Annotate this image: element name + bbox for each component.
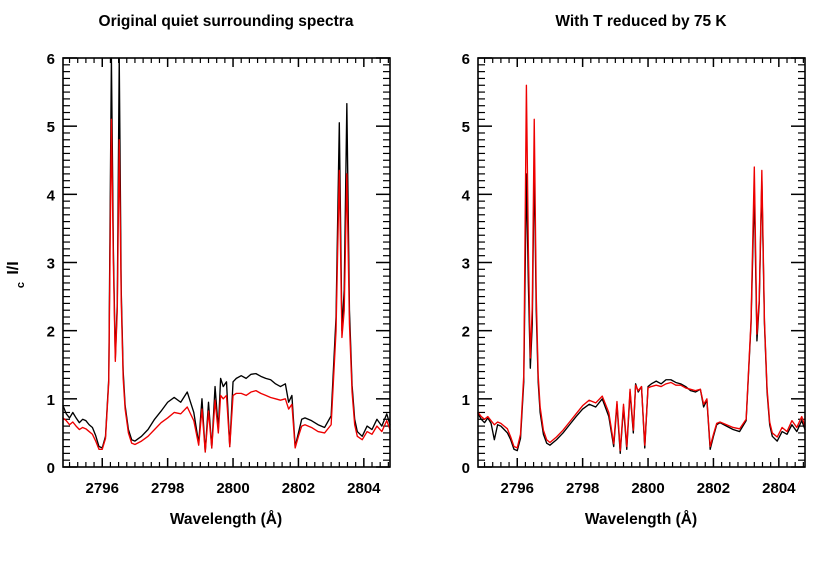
panel-original-quiet-surrounding-spectra: Original quiet surrounding spectra I/I c…	[0, 0, 415, 569]
series-line-model	[63, 119, 390, 452]
panel-right-title: With T reduced by 75 K	[555, 13, 727, 30]
y-tick-label: 1	[462, 392, 470, 409]
panel-with-t-reduced-by-75-k: With T reduced by 75 K Wavelength (Å) 27…	[415, 0, 830, 569]
y-tick-label: 5	[47, 119, 55, 136]
y-tick-label: 2	[47, 324, 55, 341]
y-tick-label: 4	[462, 187, 471, 204]
x-tick-label: 2802	[282, 480, 315, 497]
panel-left-xlabel: Wavelength (Å)	[170, 511, 282, 528]
panel-right-svg: With T reduced by 75 K Wavelength (Å) 27…	[415, 0, 830, 569]
y-tick-label: 3	[462, 256, 470, 273]
y-tick-label: 6	[462, 51, 470, 68]
panel-left-data	[63, 58, 390, 452]
panel-right-data	[478, 85, 805, 453]
x-tick-label: 2804	[762, 480, 796, 497]
y-tick-label: 3	[47, 256, 55, 273]
y-tick-label: 0	[462, 460, 470, 477]
y-tick-label: 2	[462, 324, 470, 341]
y-tick-label: 6	[47, 51, 55, 68]
x-tick-label: 2796	[501, 480, 534, 497]
x-tick-label: 2800	[631, 480, 664, 497]
panel-left-svg: Original quiet surrounding spectra I/I c…	[0, 0, 415, 569]
figure-root: Original quiet surrounding spectra I/I c…	[0, 0, 830, 569]
panel-left-title: Original quiet surrounding spectra	[99, 13, 354, 30]
y-tick-label: 5	[462, 119, 470, 136]
panel-left-ylabel-sub: c	[15, 282, 27, 288]
series-line-model	[478, 85, 805, 450]
y-tick-label: 4	[47, 187, 56, 204]
x-tick-label: 2798	[151, 480, 184, 497]
x-tick-label: 2798	[566, 480, 599, 497]
panel-left-ylabel-main: I/I	[5, 261, 22, 274]
y-tick-label: 1	[47, 392, 55, 409]
panel-left-ylabel-group: I/I c	[5, 261, 27, 288]
panel-right-xlabel: Wavelength (Å)	[585, 511, 697, 528]
x-tick-label: 2804	[347, 480, 381, 497]
y-tick-label: 0	[47, 460, 55, 477]
x-tick-label: 2800	[216, 480, 249, 497]
x-tick-label: 2796	[86, 480, 119, 497]
x-tick-label: 2802	[697, 480, 730, 497]
